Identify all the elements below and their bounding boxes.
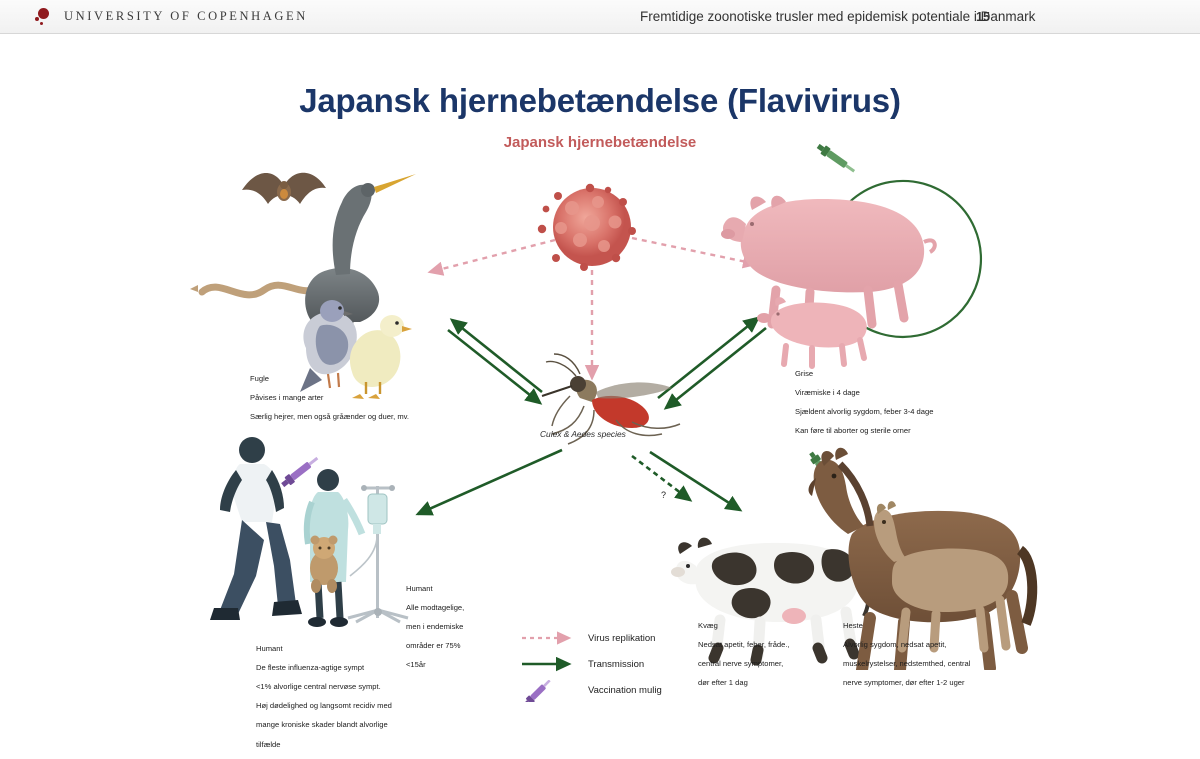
caption-birds-line-1: Særlig hejrer, men også gråænder og duer… [250,412,409,422]
bat-icon [242,173,326,204]
solid-arrow-icon [520,654,580,674]
ku-seal-icon [34,7,52,27]
caption-pigs-heading: Grise [795,369,933,379]
caption-human-main-line-4: tilfælde [256,740,392,750]
page-number: 15 [976,10,990,24]
page-title: Japansk hjernebetændelse (Flavivirus) [0,82,1200,120]
slide-canvas: Japansk hjernebetændelse (Flavivirus) Ja… [0,34,1200,673]
caption-horses-line-1: muskelrystelser, nedstemthed, central [843,659,970,669]
university-name: UNIVERSITY OF COPENHAGEN [64,9,308,24]
virus-particle-icon [538,184,636,271]
caption-human-side-line-2: områder er 75% [406,641,464,651]
diagram-legend: Virus replikation Transmission [520,625,790,703]
mosquito-proboscis-icon [542,386,572,396]
uncertain-transmission-question-mark: ? [661,490,666,500]
caption-birds-heading: Fugle [250,374,409,384]
caption-horses-line-2: nerve symptomer, dør efter 1-2 uger [843,678,970,688]
legend-item-virus-replication: Virus replikation [520,625,790,651]
caption-human-main-heading: Humant [256,644,392,654]
caption-human-side-line-0: Alle modtagelige, [406,603,464,613]
caption-human-main-line-3: mange kroniske skader blandt alvorlige [256,720,392,730]
vector-species-label: Culex & Aedes species [540,429,626,439]
legend-item-transmission: Transmission [520,651,790,677]
legend-item-vaccination: Vaccination mulig [520,677,790,703]
syringe-icon-humans [280,454,321,489]
iv-stand-icon [348,485,408,622]
pig-snout-icon [721,229,735,239]
caption-horses: Heste Alvorlig sygdom, nedsat apetit, mu… [843,611,970,697]
transmission-cycle-diagram: ? [180,130,1040,670]
dashed-arrow-icon [520,628,580,648]
teddy-bear-icon [310,536,338,594]
legend-label-virus-replication: Virus replikation [588,633,655,644]
mosquito-abdomen-icon [592,396,649,428]
caption-human-side-line-3: <15år [406,660,464,670]
snake-icon [202,285,318,295]
caption-human-side-heading: Humant [406,584,464,594]
university-logo: UNIVERSITY OF COPENHAGEN [34,7,308,27]
caption-human-main-line-0: De fleste influenza-agtige sympt [256,663,392,673]
adult-human-icon [210,437,302,620]
caption-human-main-line-2: Høj dødelighed og langsomt recidiv med [256,701,392,711]
caption-human-main-line-1: <1% alvorlige central nervøse sympt. [256,682,392,692]
application-top-bar: UNIVERSITY OF COPENHAGEN Fremtidige zoon… [0,0,1200,34]
caption-pigs-line-1: Sjældent alvorlig sygdom, feber 3-4 dage [795,407,933,417]
syringe-icon-pigs [815,142,857,175]
legend-label-transmission: Transmission [588,659,644,670]
transmission-arrows [418,318,766,514]
caption-pigs-line-0: Viræmiske i 4 dage [795,388,933,398]
legend-label-vaccination: Vaccination mulig [588,685,662,696]
mosquito-head-icon [570,376,586,392]
caption-pigs-line-2: Kan føre til aborter og sterile orner [795,426,933,436]
caption-human-main: Humant De fleste influenza-agtige sympt … [256,634,392,759]
caption-horses-line-0: Alvorlig sygdom, nedsat apetit, [843,640,970,650]
snake-head-icon [190,285,198,292]
caption-birds-line-0: Påvises i mange arter [250,393,409,403]
heron-beak-icon [374,174,416,193]
caption-human-side: Humant Alle modtagelige, men i endemiske… [406,574,464,680]
syringe-icon [520,680,580,700]
caption-pigs: Grise Viræmiske i 4 dage Sjældent alvorl… [795,359,933,445]
caption-birds: Fugle Påvises i mange arter Særlig hejre… [250,364,409,431]
caption-human-side-line-1: men i endemiske [406,622,464,632]
caption-horses-heading: Heste [843,621,970,631]
